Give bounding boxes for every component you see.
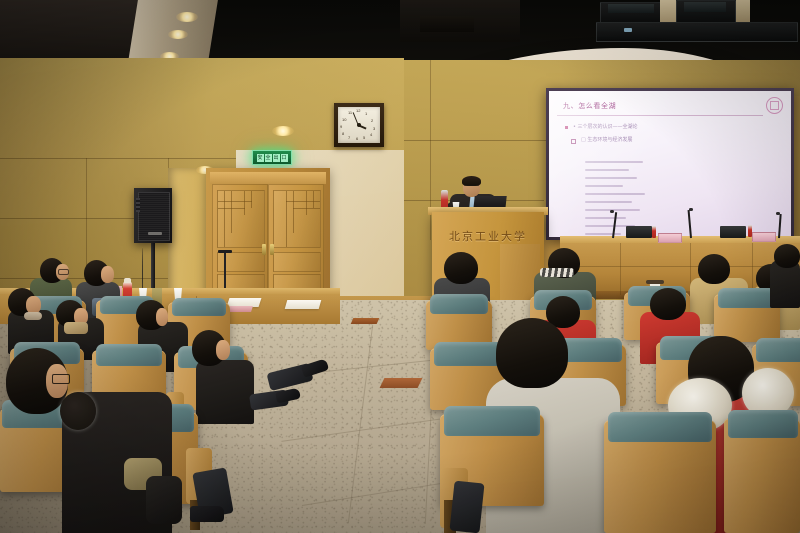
attendee-head xyxy=(496,318,568,388)
attendee-body xyxy=(196,360,254,424)
attendee-striped-scarf xyxy=(540,268,574,277)
water-bottle xyxy=(748,225,752,237)
ceiling-panel-dark xyxy=(420,16,474,32)
seat-cushion[interactable] xyxy=(608,412,712,442)
attendee-head xyxy=(774,244,800,268)
microphone-head xyxy=(610,210,614,213)
seat-cushion[interactable] xyxy=(172,298,226,316)
name-placard xyxy=(658,233,682,243)
seat-cushion[interactable] xyxy=(728,410,798,438)
seat-cushion[interactable] xyxy=(444,406,540,436)
attendee-glasses xyxy=(58,269,69,275)
clock-numeral: 11 xyxy=(348,111,352,115)
clock-numeral: 1 xyxy=(365,112,367,116)
ceiling-equipment-face xyxy=(684,2,726,12)
speaker-glasses xyxy=(464,185,479,189)
clock-numeral: 5 xyxy=(363,136,365,140)
clock-numeral: 4 xyxy=(370,133,372,137)
attendee-fur-collar xyxy=(60,392,96,430)
downlight xyxy=(272,126,294,136)
downlight xyxy=(168,30,188,39)
door-header xyxy=(210,172,326,184)
door-upper-panel xyxy=(217,190,265,248)
clock-numeral: 6 xyxy=(356,137,358,141)
microphone-head xyxy=(776,212,780,215)
document-paper xyxy=(285,300,322,309)
floor-accent-stripe xyxy=(351,318,380,324)
attendee-scarf xyxy=(24,312,42,320)
door-handle[interactable] xyxy=(262,244,266,255)
microphone-head xyxy=(689,208,693,211)
coffee-cup-lid xyxy=(646,280,664,284)
exit-sign-char: 全 xyxy=(265,154,272,162)
clock-numeral: 7 xyxy=(348,136,350,140)
attendee-arm xyxy=(146,476,182,524)
clock-numeral: 2 xyxy=(371,119,373,123)
table-seam xyxy=(620,243,621,295)
seat-cushion[interactable] xyxy=(718,288,776,308)
clock-hub xyxy=(357,123,361,127)
lecture-hall-photo: 12 1 2 3 4 5 6 7 8 9 10 11 安 全 出 口 xyxy=(0,0,800,533)
downlight xyxy=(176,12,198,22)
seat-cushion[interactable] xyxy=(430,294,488,314)
attendee-glasses xyxy=(52,374,70,384)
emergency-exit-sign: 安 全 出 口 xyxy=(252,150,292,165)
pa-speaker-label xyxy=(148,232,162,235)
podium-inscription: 北京工业大学 xyxy=(432,228,544,244)
attendee-shoe xyxy=(190,506,224,522)
attendee-face xyxy=(156,308,168,326)
exit-sign-char: 出 xyxy=(273,154,280,162)
water-bottle xyxy=(652,226,656,238)
attendee-head xyxy=(650,288,686,320)
ceiling-equipment-face xyxy=(608,4,654,13)
pa-speaker-controls[interactable] xyxy=(136,198,140,212)
ceiling-track xyxy=(596,22,798,42)
attendee-leopard-scarf xyxy=(64,322,88,334)
ceiling-indicator-light xyxy=(624,28,632,32)
exit-sign-char: 口 xyxy=(281,154,288,162)
clock-numeral: 10 xyxy=(342,118,346,122)
name-placard xyxy=(752,232,776,242)
attendee-face xyxy=(216,340,230,360)
clock-numeral: 9 xyxy=(340,125,342,129)
clock-numeral: 8 xyxy=(342,132,344,136)
door-mid-panel xyxy=(273,252,321,272)
seat-cushion[interactable] xyxy=(756,338,800,362)
screen-glare xyxy=(549,91,791,237)
ceiling-vent xyxy=(736,0,750,24)
seat-cushion[interactable] xyxy=(96,344,162,366)
thermos-cap xyxy=(124,278,131,283)
floor-accent-stripe xyxy=(380,378,423,388)
attendee-face xyxy=(101,266,114,283)
exit-sign-char: 安 xyxy=(257,154,264,162)
door-upper-panel xyxy=(273,190,321,248)
attendee-head xyxy=(444,252,478,284)
table-monitor xyxy=(720,226,746,238)
clock-numeral: 12 xyxy=(356,109,360,113)
door-handle[interactable] xyxy=(270,244,274,255)
mic-stand-boom xyxy=(218,250,232,253)
clock-numeral: 3 xyxy=(373,127,375,131)
table-monitor xyxy=(626,226,652,238)
attendee-head xyxy=(698,254,730,284)
attendee-leg xyxy=(449,481,484,533)
